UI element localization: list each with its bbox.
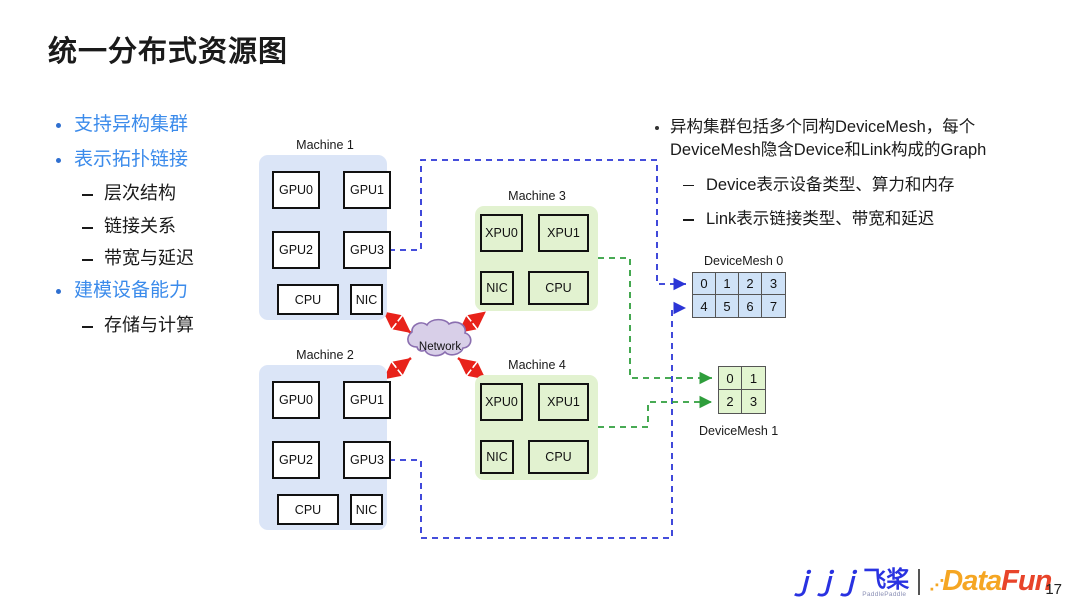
mesh-cell: 5 <box>716 295 739 317</box>
machine-label: Machine 3 <box>477 189 597 203</box>
node-gpu0: GPU0 <box>272 381 320 419</box>
list-item: Device表示设备类型、算力和内存 <box>683 174 1055 197</box>
bullet-dash-icon <box>683 219 694 221</box>
node-nic: NIC <box>480 271 514 305</box>
mesh-cell: 2 <box>719 390 742 413</box>
paddle-cn-label: 飞桨 <box>863 568 909 591</box>
mesh-cell: 6 <box>739 295 762 317</box>
devicemesh-0-grid: 0 1 2 3 4 5 6 7 <box>692 272 786 318</box>
node-cpu: CPU <box>528 271 589 305</box>
list-item-label: 异构集群包括多个同构DeviceMesh，每个DeviceMesh隐含Devic… <box>670 116 1055 162</box>
bullet-dash-icon <box>82 194 93 196</box>
node-cpu: CPU <box>528 440 589 474</box>
list-item: 建模设备能力 <box>56 278 266 304</box>
mesh-row: 0 1 <box>719 367 765 390</box>
bullet-dot-icon <box>56 158 61 163</box>
mesh-cell: 2 <box>739 273 762 294</box>
list-item: 支持异构集群 <box>56 112 266 138</box>
bullet-dot-icon <box>56 289 61 294</box>
mesh-cell: 7 <box>762 295 785 317</box>
mesh-cell: 0 <box>719 367 742 389</box>
paddle-en-label: PaddlePaddle <box>862 591 906 598</box>
node-gpu0: GPU0 <box>272 171 320 209</box>
bullet-dash-icon <box>82 326 93 328</box>
machine-2-container <box>259 365 387 530</box>
bullet-dash-icon <box>82 227 93 229</box>
node-xpu1: XPU1 <box>538 214 589 252</box>
machine-4-container <box>475 375 598 480</box>
footer-branding: ｊｊｊ 飞桨 PaddlePaddle ⋰ Data Fun 17 <box>790 562 1062 598</box>
right-bullet-list: 异构集群包括多个同构DeviceMesh，每个DeviceMesh隐含Devic… <box>655 116 1055 231</box>
footer-divider <box>918 569 920 595</box>
mesh-row: 0 1 2 3 <box>693 273 785 295</box>
page-title: 统一分布式资源图 <box>48 28 288 70</box>
list-item: 表示拓扑链接 <box>56 147 266 173</box>
node-gpu2: GPU2 <box>272 441 320 479</box>
bullet-dash-icon <box>82 259 93 261</box>
node-cpu: CPU <box>277 284 339 315</box>
mesh-cell: 3 <box>742 390 765 413</box>
mesh-cell: 4 <box>693 295 716 317</box>
slide-root: 统一分布式资源图 支持异构集群 表示拓扑链接 层次结构 链接关系 带宽与延迟 建… <box>0 0 1080 608</box>
list-item: 异构集群包括多个同构DeviceMesh，每个DeviceMesh隐含Devic… <box>655 116 1055 162</box>
machine-1-container <box>259 155 387 320</box>
paddlepaddle-logo: ｊｊｊ 飞桨 PaddlePaddle <box>790 562 909 598</box>
node-xpu0: XPU0 <box>480 383 523 421</box>
network-cloud-label: Network <box>411 341 469 353</box>
list-item-label: Link表示链接类型、带宽和延迟 <box>706 208 934 231</box>
page-number: 17 <box>1045 581 1062 598</box>
list-item-label: Device表示设备类型、算力和内存 <box>706 174 954 197</box>
list-item: Link表示链接类型、带宽和延迟 <box>683 208 1055 231</box>
node-gpu3: GPU3 <box>343 441 391 479</box>
node-gpu1: GPU1 <box>343 381 391 419</box>
mesh-row: 4 5 6 7 <box>693 295 785 317</box>
node-gpu1: GPU1 <box>343 171 391 209</box>
list-item: 存储与计算 <box>82 313 266 337</box>
bullet-dot-icon <box>655 126 659 130</box>
mesh-cell: 1 <box>742 367 765 389</box>
mesh-row: 2 3 <box>719 390 765 413</box>
datafun-fun-label: Fun <box>1001 565 1051 598</box>
node-gpu2: GPU2 <box>272 231 320 269</box>
devicemesh-1-label: DeviceMesh 1 <box>699 424 778 438</box>
list-item-label: 存储与计算 <box>104 313 194 337</box>
datafun-dots-icon: ⋰ <box>929 576 941 594</box>
mesh-cell: 3 <box>762 273 785 294</box>
node-xpu0: XPU0 <box>480 214 523 252</box>
node-gpu3: GPU3 <box>343 231 391 269</box>
list-item-label: 带宽与延迟 <box>104 246 194 270</box>
machine-label: Machine 4 <box>477 358 597 372</box>
node-nic: NIC <box>350 284 383 315</box>
node-nic: NIC <box>350 494 383 525</box>
devicemesh-0-label: DeviceMesh 0 <box>704 254 783 268</box>
list-item-label: 表示拓扑链接 <box>74 147 188 173</box>
list-item-label: 建模设备能力 <box>74 278 188 304</box>
node-cpu: CPU <box>277 494 339 525</box>
paddle-mark-icon: ｊｊｊ <box>790 562 859 598</box>
list-item: 层次结构 <box>82 181 266 205</box>
node-xpu1: XPU1 <box>538 383 589 421</box>
left-bullet-list: 支持异构集群 表示拓扑链接 层次结构 链接关系 带宽与延迟 建模设备能力 存储与… <box>56 112 266 345</box>
list-item: 链接关系 <box>82 214 266 238</box>
list-item-label: 层次结构 <box>104 181 176 205</box>
devicemesh-1-grid: 0 1 2 3 <box>718 366 766 414</box>
mesh-cell: 1 <box>716 273 739 294</box>
machine-label: Machine 2 <box>261 348 389 362</box>
list-item-label: 支持异构集群 <box>74 112 188 138</box>
list-item-label: 链接关系 <box>104 214 176 238</box>
datafun-data-label: Data <box>942 565 1001 598</box>
mesh-cell: 0 <box>693 273 716 294</box>
bullet-dot-icon <box>56 123 61 128</box>
bullet-dash-icon <box>683 185 694 187</box>
machine-3-container <box>475 206 598 311</box>
list-item: 带宽与延迟 <box>82 246 266 270</box>
datafun-logo: ⋰ Data Fun <box>929 565 1051 598</box>
machine-label: Machine 1 <box>261 138 389 152</box>
node-nic: NIC <box>480 440 514 474</box>
